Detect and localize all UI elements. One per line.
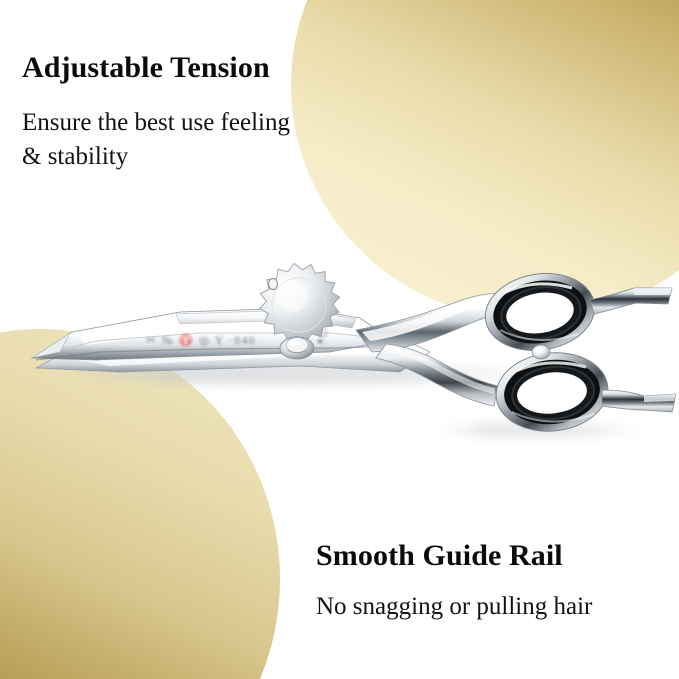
callout-subtext-adjustable-tension: Ensure the best use feeling & stability: [22, 106, 422, 173]
callout-adjustable-tension: Adjustable Tension Ensure the best use f…: [22, 52, 422, 173]
callout-headline-adjustable-tension: Adjustable Tension: [22, 52, 422, 84]
svg-text:✂ № ♈ ◎ Y ·840: ✂ № ♈ ◎ Y ·840: [146, 333, 256, 347]
svg-text:⚭: ⚭: [316, 337, 324, 348]
callout-subtext-line-1: Ensure the best use feeling: [22, 109, 290, 136]
callout-subtext-line-2: & stability: [22, 143, 128, 170]
handle-set-screw: [532, 345, 550, 359]
product-feature-image: ✂ № ♈ ◎ Y ·840 ▢ ⚭: [0, 0, 679, 679]
dial-pin-hole: [269, 278, 278, 289]
blade-engraving: ✂ № ♈ ◎ Y ·840: [146, 333, 256, 347]
callout-smooth-guide-rail: Smooth Guide Rail No snagging or pulling…: [316, 540, 678, 624]
handle-lower: [376, 344, 676, 437]
callout-subtext-smooth-guide-rail: No snagging or pulling hair: [316, 590, 678, 624]
callout-headline-smooth-guide-rail: Smooth Guide Rail: [316, 540, 678, 572]
callout-subtext-line-1: No snagging or pulling hair: [316, 593, 592, 620]
handle-upper: [356, 266, 672, 358]
pivot-screw: [280, 337, 314, 359]
